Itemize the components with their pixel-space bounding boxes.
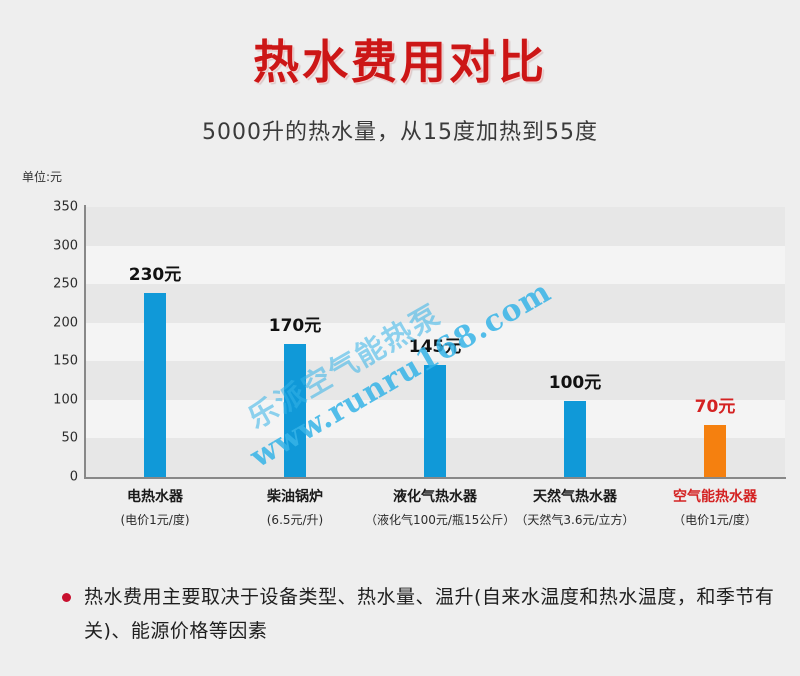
y-axis-tick-label: 200 (32, 315, 78, 330)
bar[interactable] (424, 365, 446, 477)
y-axis-tick-label: 300 (32, 238, 78, 253)
category-subtitle: (电价1元/度) (85, 510, 225, 530)
y-axis-tick-label: 350 (32, 200, 78, 215)
category-subtitle: （天然气3.6元/立方） (505, 510, 645, 530)
category-name: 空气能热水器 (645, 487, 785, 507)
x-axis-category: 电热水器(电价1元/度) (85, 487, 225, 530)
category-name: 柴油锅炉 (225, 487, 365, 507)
bar-value-label: 145元 (409, 337, 462, 357)
footnote: 热水费用主要取决于设备类型、热水量、温升(自来水温度和热水温度，和季节有关)、能… (62, 580, 782, 648)
y-axis-tick-label: 250 (32, 277, 78, 292)
bar[interactable] (704, 425, 726, 477)
bar-slot: 100元天然气热水器（天然气3.6元/立方） (505, 0, 645, 676)
bar-slot: 145元液化气热水器（液化气100元/瓶15公斤） (365, 0, 505, 676)
bar[interactable] (564, 401, 586, 477)
x-axis-category: 液化气热水器（液化气100元/瓶15公斤） (365, 487, 505, 530)
bar-slot: 230元电热水器(电价1元/度) (85, 0, 225, 676)
footnote-text: 热水费用主要取决于设备类型、热水量、温升(自来水温度和热水温度，和季节有关)、能… (62, 580, 782, 648)
y-axis-tick-label: 0 (32, 470, 78, 485)
y-axis-tick-label: 150 (32, 354, 78, 369)
x-axis-category: 柴油锅炉(6.5元/升) (225, 487, 365, 530)
x-axis-category: 天然气热水器（天然气3.6元/立方） (505, 487, 645, 530)
bar-value-label: 100元 (549, 373, 602, 393)
bar-value-label: 230元 (129, 265, 182, 285)
category-subtitle: （液化气100元/瓶15公斤） (365, 510, 505, 530)
category-subtitle: （电价1元/度） (645, 510, 785, 530)
category-name: 液化气热水器 (365, 487, 505, 507)
y-axis-tick-label: 100 (32, 392, 78, 407)
bar-slot: 170元柴油锅炉(6.5元/升) (225, 0, 365, 676)
category-name: 电热水器 (85, 487, 225, 507)
y-axis-tick-label: 50 (32, 431, 78, 446)
bar-chart: 050100150200250300350 230元电热水器(电价1元/度)17… (0, 0, 800, 676)
bar-slot: 70元空气能热水器（电价1元/度） (645, 0, 785, 676)
infographic-page: 热水费用对比 5000升的热水量，从15度加热到55度 单位:元 0501001… (0, 0, 800, 676)
category-subtitle: (6.5元/升) (225, 510, 365, 530)
bar-value-label: 170元 (269, 316, 322, 336)
bar[interactable] (144, 293, 166, 477)
y-axis-ticks: 050100150200250300350 (28, 0, 78, 676)
bar[interactable] (284, 344, 306, 477)
category-name: 天然气热水器 (505, 487, 645, 507)
bar-value-label: 70元 (695, 397, 736, 417)
x-axis-category: 空气能热水器（电价1元/度） (645, 487, 785, 530)
bars-group: 230元电热水器(电价1元/度)170元柴油锅炉(6.5元/升)145元液化气热… (85, 0, 785, 676)
